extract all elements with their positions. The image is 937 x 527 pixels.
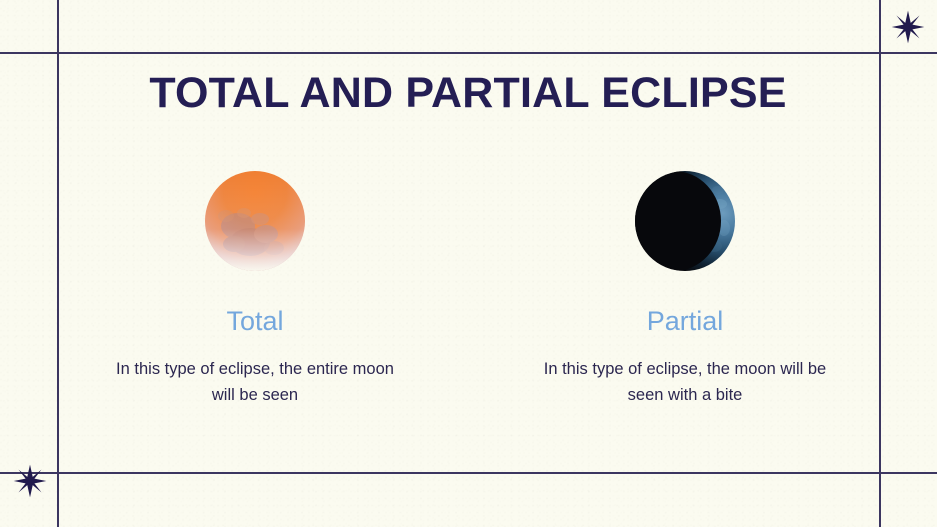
frame-rule-bottom [0, 472, 937, 474]
eight-point-star-icon [13, 464, 47, 498]
eclipse-label-total: Total [226, 308, 283, 335]
total-eclipse-moon-image [204, 170, 306, 272]
eight-point-star-icon [891, 10, 925, 44]
eclipse-description-total: In this type of eclipse, the entire moon… [105, 357, 405, 408]
page-title: TOTAL AND PARTIAL ECLIPSE [57, 70, 879, 117]
eclipse-column-total: Total In this type of eclipse, the entir… [90, 170, 420, 408]
eclipse-label-partial: Partial [647, 308, 724, 335]
eclipse-description-partial: In this type of eclipse, the moon will b… [535, 357, 835, 408]
slide-canvas: TOTAL AND PARTIAL ECLIPSE [0, 0, 937, 527]
partial-eclipse-moon-image [634, 170, 736, 272]
eclipse-column-partial: Partial In this type of eclipse, the moo… [520, 170, 850, 408]
frame-rule-top [0, 52, 937, 54]
frame-rule-right [879, 0, 881, 527]
eclipse-columns: Total In this type of eclipse, the entir… [90, 170, 850, 408]
